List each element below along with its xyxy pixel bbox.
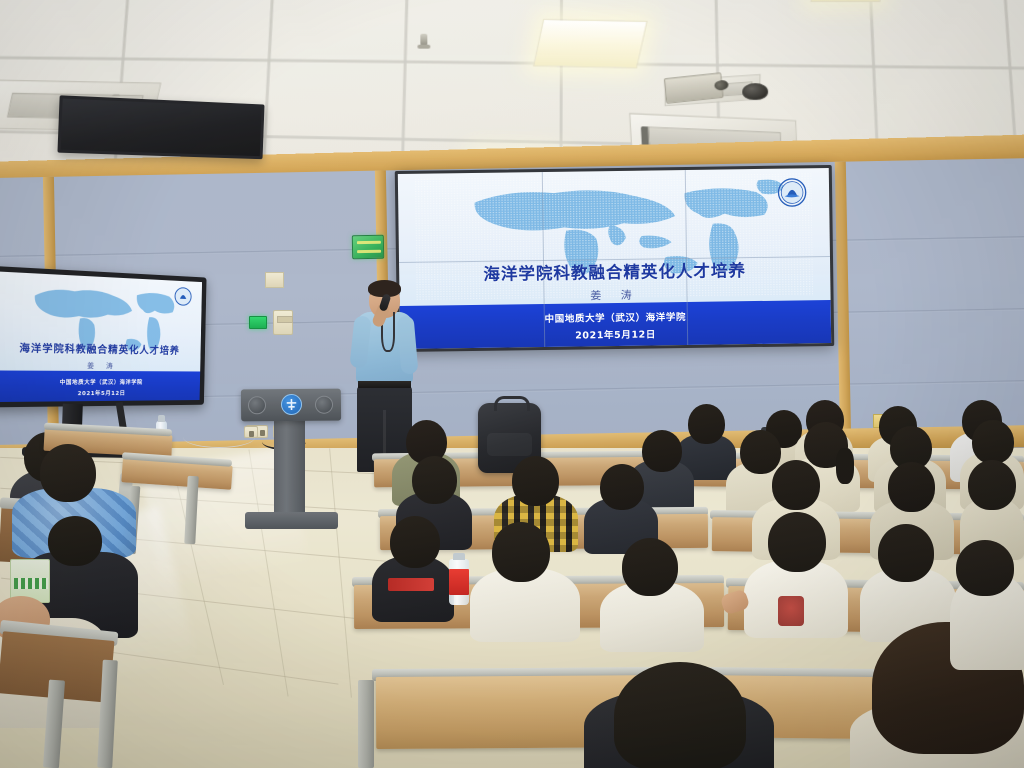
lectern (241, 389, 341, 422)
ceiling-light-panel (810, 0, 883, 2)
sprinkler-head (420, 34, 427, 46)
emergency-exit-sign (249, 316, 267, 329)
side-slide-organization: 中国地质大学（武汉）海洋学院 (0, 377, 200, 385)
lectern-column (274, 418, 305, 517)
tee-graphic (388, 578, 434, 591)
lecture-hall-photo: 海洋学院科教融合精英化人才培养 姜 涛 中国地质大学（武汉）海洋学院 2021年… (0, 0, 1024, 768)
side-monitor: 海洋学院科教融合精英化人才培养 姜 涛 中国地质大学（武汉）海洋学院 2021年… (0, 266, 207, 408)
presentation-slide: 海洋学院科教融合精英化人才培养 姜 涛 中国地质大学（武汉）海洋学院 2021年… (398, 168, 831, 349)
university-seal-logo-small (174, 287, 192, 307)
side-slide-presenter: 姜 涛 (0, 360, 200, 372)
speaker-belt (358, 381, 411, 388)
lectern-logo-center (281, 394, 302, 415)
wall-control-panel[interactable] (265, 272, 284, 288)
university-seal-logo (777, 177, 807, 207)
wall-control-box[interactable] (273, 310, 293, 335)
side-slide-title: 海洋学院科教融合精英化人才培养 (0, 339, 201, 357)
dome-camera (742, 83, 768, 100)
ceiling-light-panel (533, 19, 648, 68)
water-bottle (449, 559, 469, 605)
bottle-label (449, 569, 469, 595)
tee-logo (778, 596, 804, 626)
lectern-emblem-left (248, 396, 266, 414)
power-cable (183, 426, 255, 448)
bottle-cap (158, 415, 165, 422)
green-safety-notice (352, 235, 384, 260)
bench-leg (358, 680, 374, 768)
lectern-emblem-right (315, 396, 333, 414)
video-wall-screen: 海洋学院科教融合精英化人才培养 姜 涛 中国地质大学（武汉）海洋学院 2021年… (395, 165, 834, 352)
bottle-cap (453, 553, 466, 560)
wall-mounted-display (57, 95, 264, 159)
ponytail (836, 448, 854, 484)
side-monitor-slide: 海洋学院科教融合精英化人才培养 姜 涛 中国地质大学（武汉）海洋学院 2021年… (0, 271, 202, 402)
lectern-base (245, 512, 338, 529)
